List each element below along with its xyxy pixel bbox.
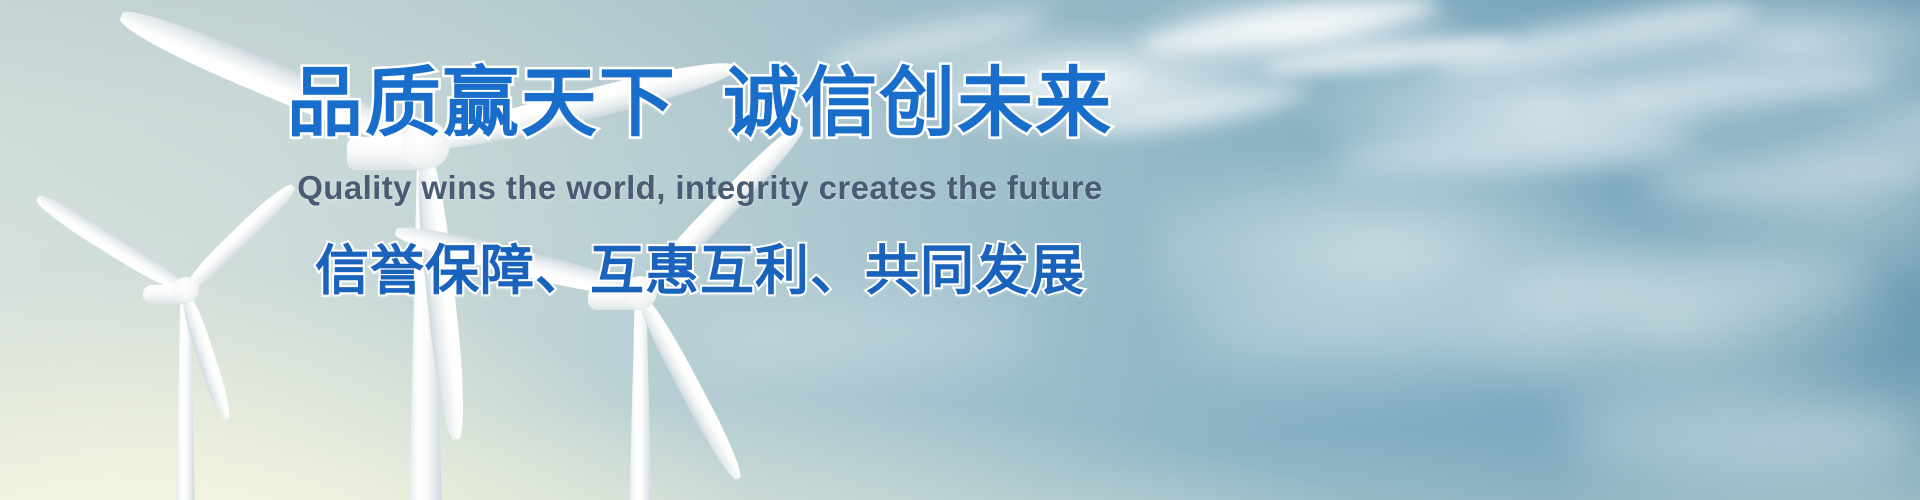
banner-text-block: 品质赢天下 诚信创未来 Quality wins the world, inte… xyxy=(0,0,1920,500)
banner-headline: 品质赢天下 诚信创未来 xyxy=(0,58,1400,150)
banner-tagline: 信誉保障、互惠互利、共同发展 xyxy=(0,238,1400,304)
banner-subtitle-english: Quality wins the world, integrity create… xyxy=(0,168,1400,208)
hero-banner: 品质赢天下 诚信创未来 Quality wins the world, inte… xyxy=(0,0,1920,500)
